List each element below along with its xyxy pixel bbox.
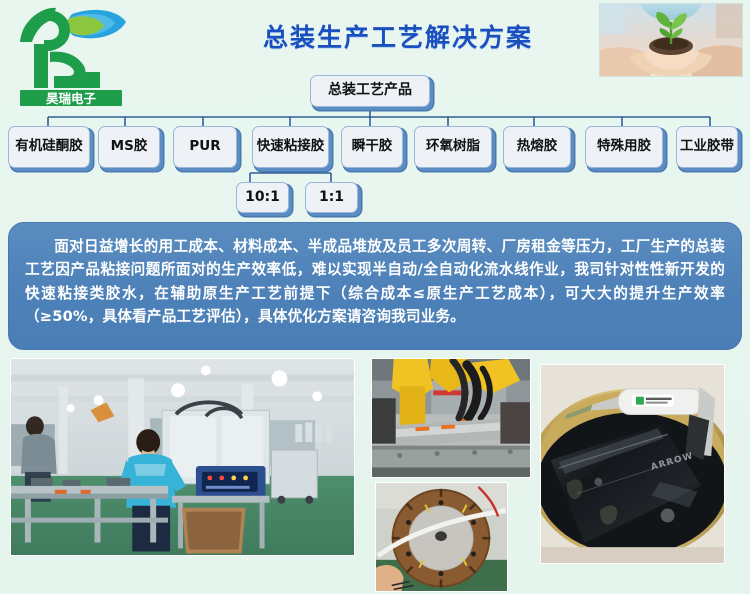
flow-node-hotmelt[interactable]: 热熔胶 [503,126,571,168]
flow-node-fast-bond[interactable]: 快速粘接胶 [252,126,329,168]
description-panel: 面对日益增长的用工成本、材料成本、半成品堆放及员工多次周转、厂房租金等压力，工厂… [8,222,742,350]
page-title: 总装生产工艺解决方案 [218,18,578,54]
black-glossy-panel-photo: ARROW [540,364,725,564]
yellow-robot-dispensing-photo [371,358,531,478]
flow-node-silicone[interactable]: 有机硅酮胶 [8,126,90,168]
company-logo: 昊瑞电子 [14,4,130,108]
flow-node-epoxy[interactable]: 环氧树脂 [414,126,492,168]
flow-node-root[interactable]: 总装工艺产品 [310,75,430,107]
flow-node-ms[interactable]: MS胶 [98,126,160,168]
flow-node-pur[interactable]: PUR [173,126,237,168]
factory-assembly-line-photo [10,358,355,556]
flow-node-instant[interactable]: 瞬干胶 [341,126,403,168]
circular-disc-component-photo [375,482,508,592]
flow-node-ratio-10-1[interactable]: 10:1 [236,182,289,213]
poster-root: 昊瑞电子 总装生产工艺解决方案 [0,0,750,594]
hands-seedling-photo [599,3,743,77]
photo-gallery: ARROW [0,356,750,594]
flow-node-special[interactable]: 特殊用胶 [585,126,663,168]
logo-brand-text: 昊瑞电子 [46,91,97,106]
flow-node-tape[interactable]: 工业胶带 [676,126,738,168]
flow-node-ratio-1-1[interactable]: 1:1 [305,182,358,213]
